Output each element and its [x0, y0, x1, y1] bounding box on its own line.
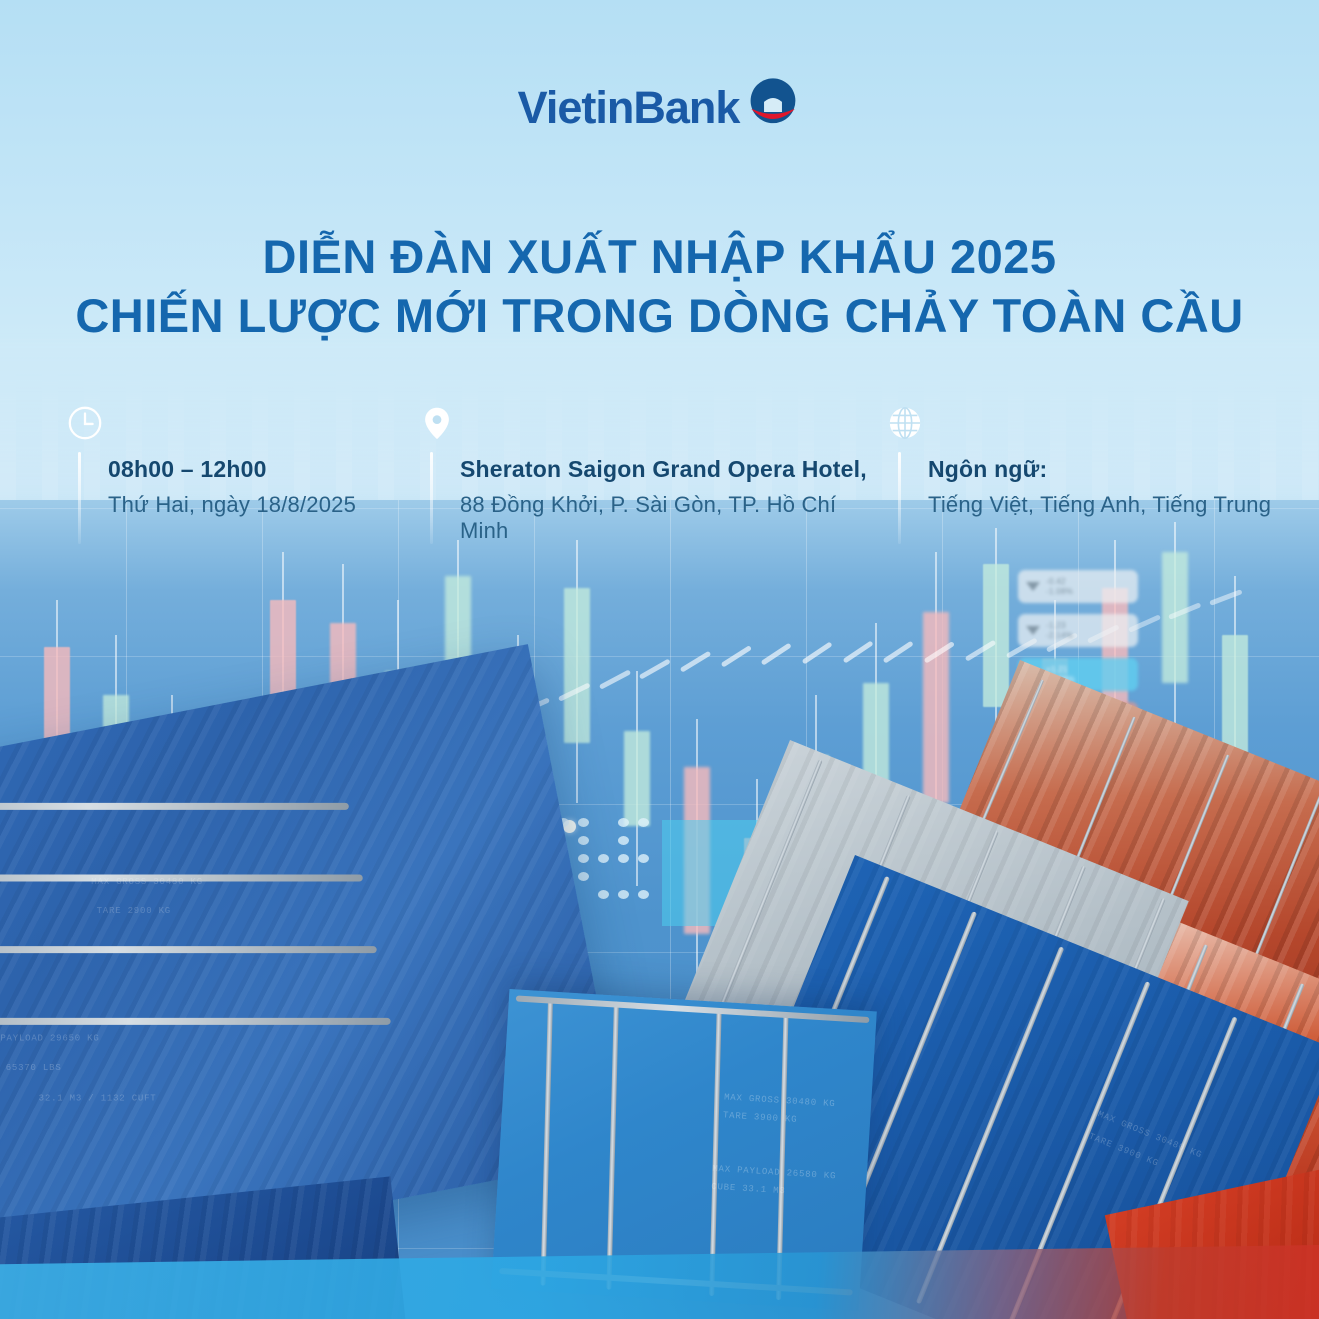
matrix-dot — [618, 890, 629, 899]
info-divider — [430, 452, 433, 544]
event-info-row: 08h00 – 12h00 Thứ Hai, ngày 18/8/2025 Sh… — [58, 404, 1279, 544]
matrix-dot — [598, 890, 609, 899]
matrix-dot — [578, 854, 589, 863]
market-data-card[interactable]: -1.23-2.14% — [1018, 614, 1138, 647]
venue-secondary: 88 Đồng Khởi, P. Sài Gòn, TP. Hồ Chí Min… — [460, 492, 878, 544]
title-line-2: CHIẾN LƯỢC MỚI TRONG DÒNG CHẢY TOÀN CẦU — [0, 287, 1319, 346]
time-primary: 08h00 – 12h00 — [108, 456, 410, 483]
globe-icon — [886, 404, 924, 442]
info-divider — [898, 452, 901, 544]
candle-body-up — [983, 564, 1009, 707]
matrix-dot — [618, 818, 629, 827]
candle-body-up — [624, 731, 650, 827]
location-pin-icon — [418, 404, 456, 442]
matrix-dot — [578, 836, 589, 845]
brand-name: VietinBank — [518, 82, 740, 134]
title-line-1: DIỄN ĐÀN XUẤT NHẬP KHẨU 2025 — [0, 228, 1319, 287]
matrix-dot — [618, 836, 629, 845]
info-block-language: Ngôn ngữ: Tiếng Việt, Tiếng Anh, Tiếng T… — [878, 404, 1278, 544]
triangle-down-icon — [1026, 582, 1040, 591]
card-values: -0.42-1.08% — [1046, 577, 1073, 597]
poster-canvas: -0.42-1.08%-1.23-2.14%+1.21+3.06%-2.60-1… — [0, 0, 1319, 1319]
matrix-dot — [638, 854, 649, 863]
matrix-dot — [578, 872, 589, 881]
time-secondary: Thứ Hai, ngày 18/8/2025 — [108, 492, 410, 518]
matrix-dot — [638, 818, 649, 827]
clock-icon — [66, 404, 104, 442]
candle-body-up — [564, 588, 590, 743]
triangle-down-icon — [1026, 626, 1040, 635]
info-block-time: 08h00 – 12h00 Thứ Hai, ngày 18/8/2025 — [58, 404, 410, 544]
market-data-card[interactable]: -0.42-1.08% — [1018, 570, 1138, 603]
matrix-dot — [578, 818, 589, 827]
info-divider — [78, 452, 81, 544]
candle-body-down — [923, 612, 949, 803]
language-primary: Ngôn ngữ: — [928, 456, 1278, 483]
vietinbank-logo[interactable]: VietinBank — [0, 82, 1319, 134]
info-block-venue: Sheraton Saigon Grand Opera Hotel, 88 Đồ… — [410, 404, 878, 544]
card-values: -1.23-2.14% — [1046, 621, 1073, 641]
poster-title-block: DIỄN ĐÀN XUẤT NHẬP KHẨU 2025 CHIẾN LƯỢC … — [0, 228, 1319, 346]
matrix-dot — [598, 854, 609, 863]
matrix-dot — [638, 890, 649, 899]
vietinbank-circle-arch-logo — [745, 75, 801, 131]
language-secondary: Tiếng Việt, Tiếng Anh, Tiếng Trung — [928, 492, 1278, 518]
matrix-dot — [618, 854, 629, 863]
venue-primary: Sheraton Saigon Grand Opera Hotel, — [460, 456, 878, 483]
